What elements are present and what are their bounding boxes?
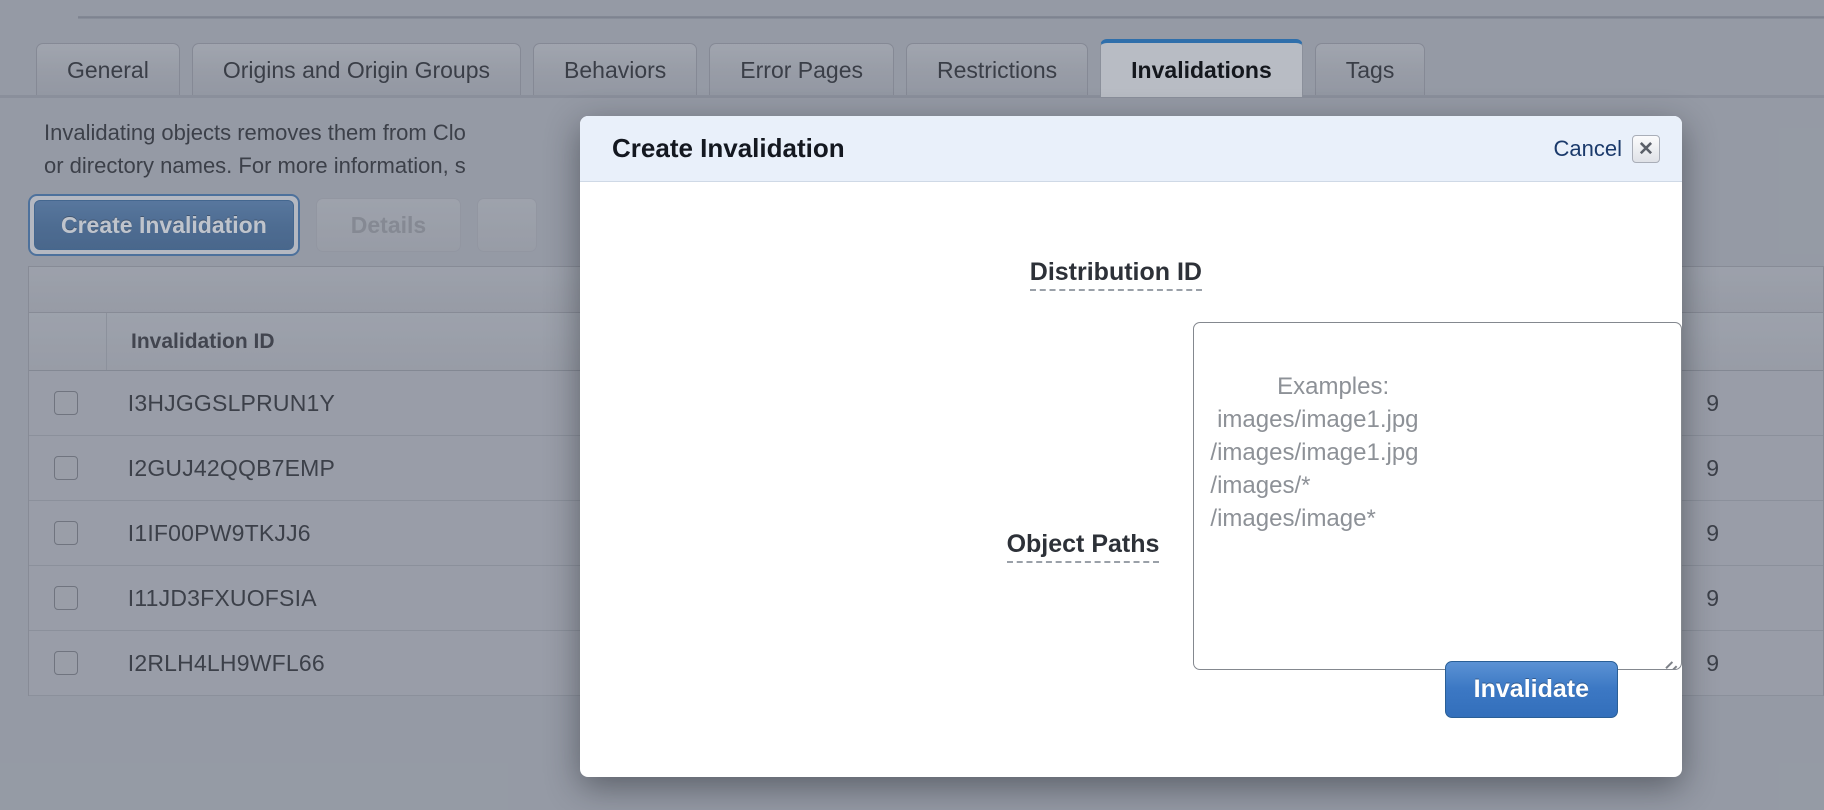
tab-origins-and-origin-groups[interactable]: Origins and Origin Groups — [192, 43, 521, 97]
tab-invalidations[interactable]: Invalidations — [1100, 39, 1303, 97]
tab-label: Origins and Origin Groups — [223, 57, 490, 84]
app-root: General Origins and Origin Groups Behavi… — [0, 0, 1824, 810]
create-invalidation-button[interactable]: Create Invalidation — [34, 200, 294, 250]
row-checkbox[interactable] — [54, 521, 78, 545]
object-paths-label: Object Paths — [580, 322, 1193, 670]
cell-invalidation-tail: 9 — [1706, 455, 1719, 482]
tab-label: General — [67, 57, 149, 84]
row-checkbox-cell[interactable] — [29, 391, 104, 415]
tab-behaviors[interactable]: Behaviors — [533, 43, 697, 97]
cell-invalidation-tail: 9 — [1706, 585, 1719, 612]
select-all-header-cell[interactable] — [29, 313, 107, 370]
column-header-invalidation-id[interactable]: Invalidation ID — [107, 330, 275, 354]
tab-restrictions[interactable]: Restrictions — [906, 43, 1088, 97]
create-invalidation-label: Create Invalidation — [61, 212, 267, 239]
tab-bar: General Origins and Origin Groups Behavi… — [0, 35, 1824, 97]
cancel-link[interactable]: Cancel — [1554, 136, 1622, 162]
refresh-button[interactable] — [477, 198, 537, 252]
create-invalidation-dialog: Create Invalidation Cancel ✕ Distributio… — [580, 116, 1682, 777]
object-paths-placeholder: Examples: images/image1.jpg /images/imag… — [1210, 373, 1418, 532]
cell-invalidation-id: I11JD3FXUOFSIA — [104, 585, 317, 611]
cell-invalidation-id: I2RLH4LH9WFL66 — [104, 650, 325, 676]
row-checkbox[interactable] — [54, 651, 78, 675]
invalidate-button[interactable]: Invalidate — [1445, 661, 1618, 718]
tab-label: Tags — [1346, 57, 1395, 84]
dialog-header-actions: Cancel ✕ — [1554, 116, 1660, 182]
dialog-footer: Invalidate — [580, 653, 1682, 777]
row-checkbox-cell[interactable] — [29, 586, 104, 610]
row-checkbox-cell[interactable] — [29, 456, 104, 480]
invalidate-label: Invalidate — [1474, 675, 1589, 704]
row-checkbox-cell[interactable] — [29, 651, 104, 675]
cell-invalidation-tail: 9 — [1706, 650, 1719, 677]
row-checkbox[interactable] — [54, 586, 78, 610]
object-paths-textarea[interactable]: Examples: images/image1.jpg /images/imag… — [1193, 322, 1682, 670]
tab-error-pages[interactable]: Error Pages — [709, 43, 894, 97]
tab-label: Invalidations — [1131, 57, 1272, 84]
distribution-id-label-text: Distribution ID — [1030, 258, 1202, 291]
top-divider — [78, 16, 1824, 19]
dialog-body: Distribution ID Object Paths Examples: i… — [580, 182, 1682, 777]
close-icon[interactable]: ✕ — [1632, 135, 1660, 163]
object-paths-row: Object Paths Examples: images/image1.jpg… — [580, 322, 1682, 670]
row-checkbox-cell[interactable] — [29, 521, 104, 545]
tab-label: Error Pages — [740, 57, 863, 84]
details-button[interactable]: Details — [316, 198, 461, 252]
create-invalidation-focus-ring: Create Invalidation — [28, 194, 300, 256]
tab-label: Behaviors — [564, 57, 666, 84]
object-paths-label-text: Object Paths — [1007, 530, 1160, 563]
dialog-title: Create Invalidation — [612, 133, 845, 164]
cell-invalidation-id: I2GUJ42QQB7EMP — [104, 455, 335, 481]
details-label: Details — [351, 212, 426, 239]
cell-invalidation-tail: 9 — [1706, 520, 1719, 547]
row-checkbox[interactable] — [54, 456, 78, 480]
table-toolbar-actions: Create Invalidation Details — [28, 194, 537, 256]
distribution-id-row: Distribution ID — [580, 258, 1682, 287]
tab-general[interactable]: General — [36, 43, 180, 97]
row-checkbox[interactable] — [54, 391, 78, 415]
tab-tags[interactable]: Tags — [1315, 43, 1426, 97]
cell-invalidation-tail: 9 — [1706, 390, 1719, 417]
dialog-header: Create Invalidation Cancel ✕ — [580, 116, 1682, 182]
tab-label: Restrictions — [937, 57, 1057, 84]
cell-invalidation-id: I1IF00PW9TKJJ6 — [104, 520, 311, 546]
distribution-id-label: Distribution ID — [580, 258, 1236, 287]
cell-invalidation-id: I3HJGGSLPRUN1Y — [104, 390, 335, 416]
